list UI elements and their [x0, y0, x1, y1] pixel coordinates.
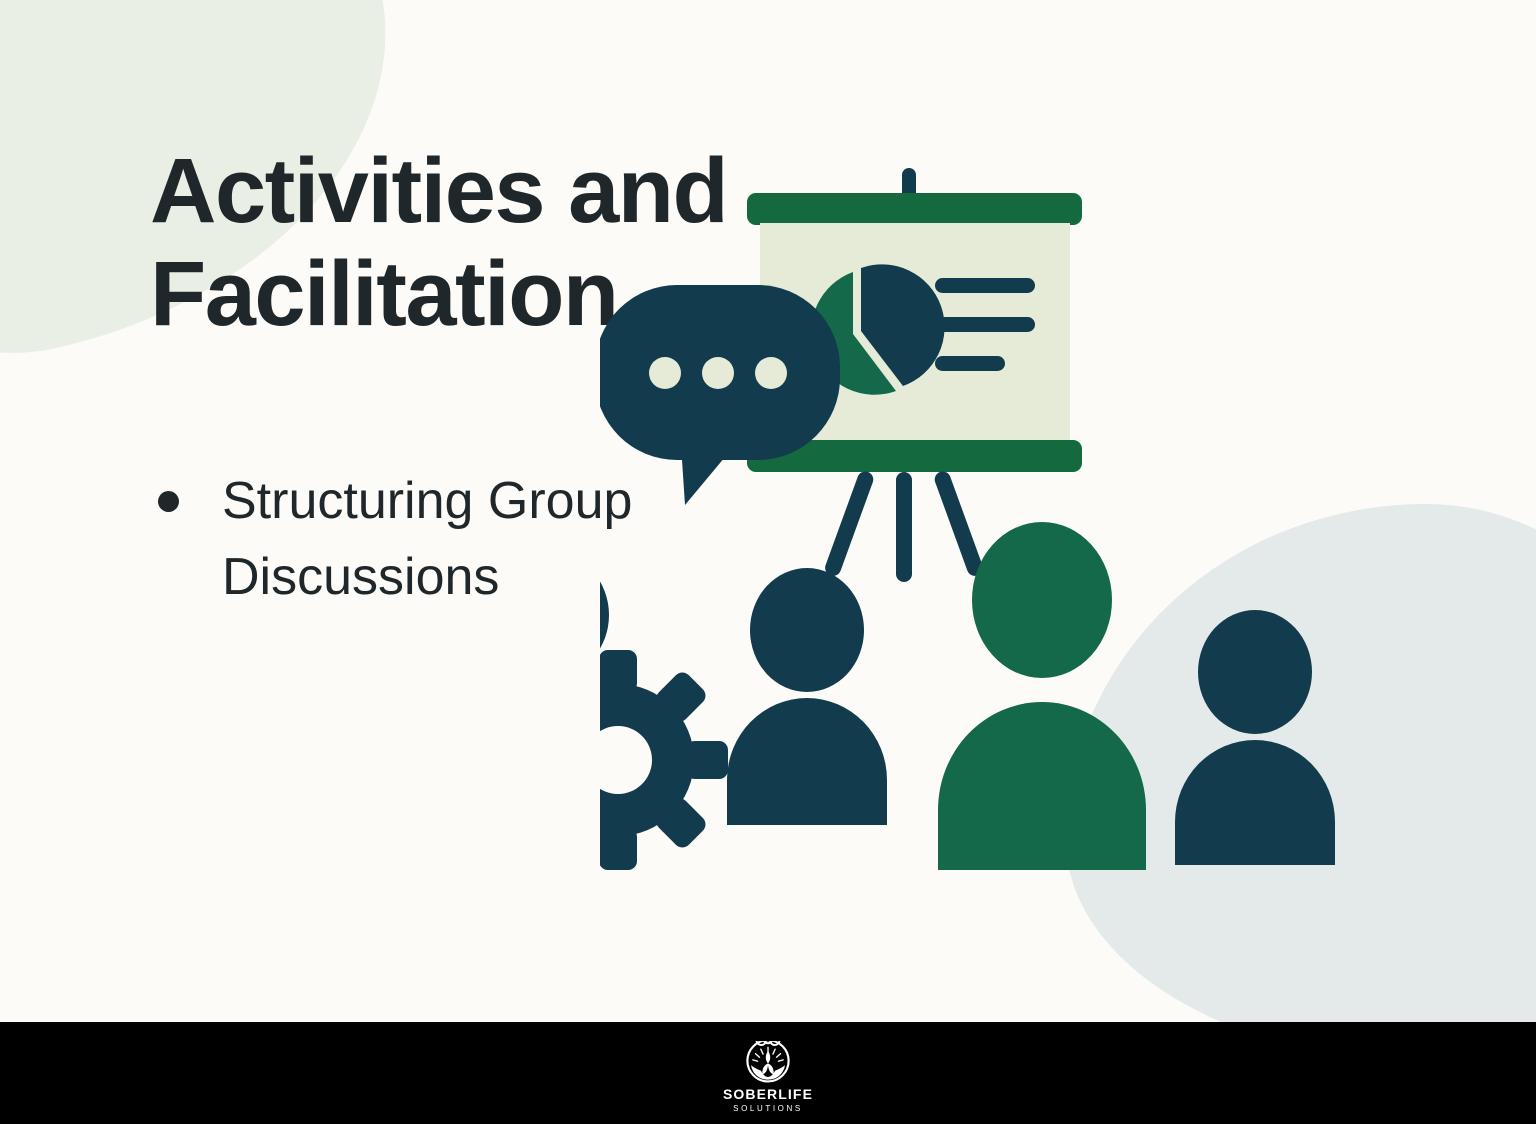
bullet-dot-icon	[158, 491, 179, 512]
bullet-item-label: Structuring Group Discussions	[222, 472, 632, 606]
board-top-bar	[747, 193, 1082, 225]
easel-leg-left	[823, 469, 876, 578]
brand-logo[interactable]: SOBERLIFE SOLUTIONS	[723, 1033, 813, 1113]
person-right-body	[1175, 740, 1335, 865]
speech-dot-2	[702, 357, 734, 389]
gear-icon	[600, 650, 728, 870]
board-text-line-3	[935, 356, 1005, 371]
soberlife-emblem-icon	[741, 1033, 795, 1085]
brand-name: SOBERLIFE	[723, 1087, 813, 1101]
group-facilitation-illustration	[600, 160, 1410, 870]
person-center-head	[972, 522, 1112, 678]
person-right-head	[1198, 610, 1312, 734]
board-text-line-2	[935, 317, 1035, 332]
list-item: Structuring Group Discussions	[150, 464, 642, 616]
slide-root: Activities and Facilitation Structuring …	[0, 0, 1536, 1124]
person-right-icon	[1175, 610, 1335, 865]
footer-bar: SOBERLIFE SOLUTIONS	[0, 1022, 1536, 1124]
person-second-left-icon	[727, 568, 887, 825]
person-center-body	[938, 702, 1146, 870]
person-second-left-body	[727, 698, 887, 825]
speech-dot-3	[755, 357, 787, 389]
easel-tripod-legs	[823, 469, 985, 582]
easel-leg-right	[932, 469, 985, 578]
brand-subtitle: SOLUTIONS	[733, 1105, 803, 1113]
person-center-icon	[938, 522, 1146, 870]
person-second-left-head	[750, 568, 864, 692]
speech-dot-1	[649, 357, 681, 389]
easel-leg-center	[896, 472, 912, 582]
board-text-line-1	[935, 278, 1035, 293]
